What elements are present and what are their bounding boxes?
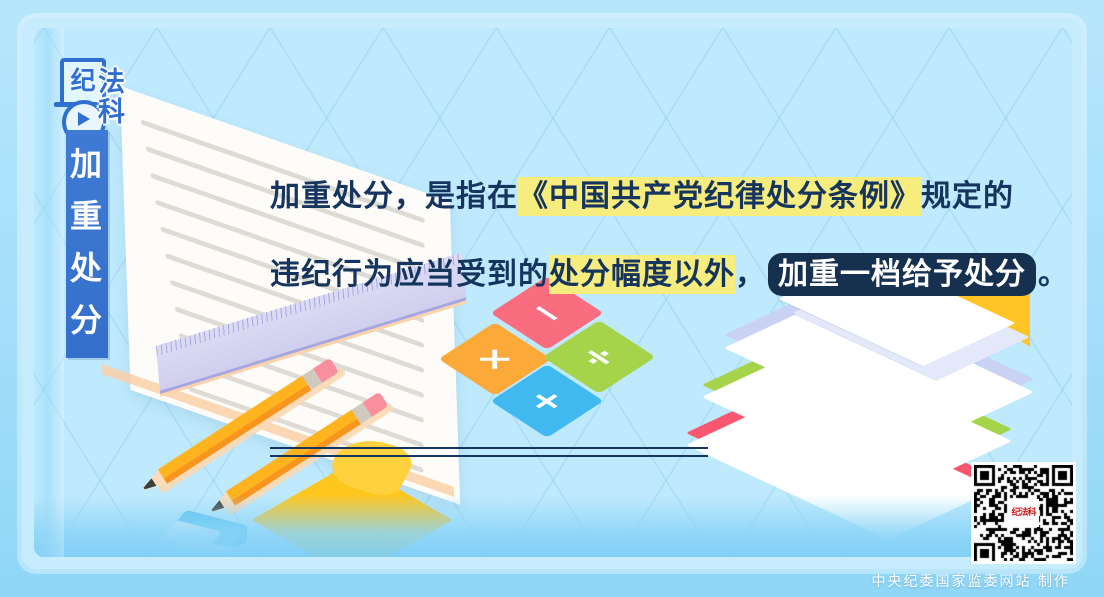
- line2-highlight: 处分幅度以外: [549, 255, 735, 294]
- vertical-title-banner: 加重处分: [66, 130, 108, 358]
- line1-text-before: 加重处分，是指在: [270, 179, 518, 214]
- board-bottom-gradient: [34, 495, 1072, 557]
- double-underline: [270, 447, 708, 457]
- copy-line-1: 加重处分，是指在《中国共产党纪律处分条例》规定的: [270, 158, 990, 236]
- line2-text-before: 违纪行为应当受到的: [270, 257, 549, 292]
- poster-canvas: × − ÷ +: [0, 0, 1104, 597]
- banner-char: 分: [66, 294, 108, 346]
- copy-line-2: 违纪行为应当受到的处分幅度以外，加重一档给予处分。: [270, 236, 990, 314]
- banner-char: 重: [66, 190, 108, 242]
- line1-text-after: 规定的: [921, 179, 1014, 214]
- logo-fake-side-text: 法科: [98, 68, 146, 128]
- line2-comma: ，: [735, 257, 766, 292]
- banner-char: 加: [66, 138, 108, 190]
- qr-center-logo: 纪法科: [1009, 499, 1039, 527]
- qr-code[interactable]: 纪法科: [971, 462, 1076, 564]
- line1-highlight: 《中国共产党纪律处分条例》: [518, 177, 921, 216]
- emphasis-pill: 加重一档给予处分: [768, 253, 1036, 296]
- main-copy: 加重处分，是指在《中国共产党纪律处分条例》规定的 违纪行为应当受到的处分幅度以外…: [270, 158, 990, 314]
- banner-char: 处: [66, 242, 108, 294]
- line2-period: 。: [1038, 257, 1069, 292]
- credit-text: 中央纪委国家监委网站 制作: [872, 571, 1070, 591]
